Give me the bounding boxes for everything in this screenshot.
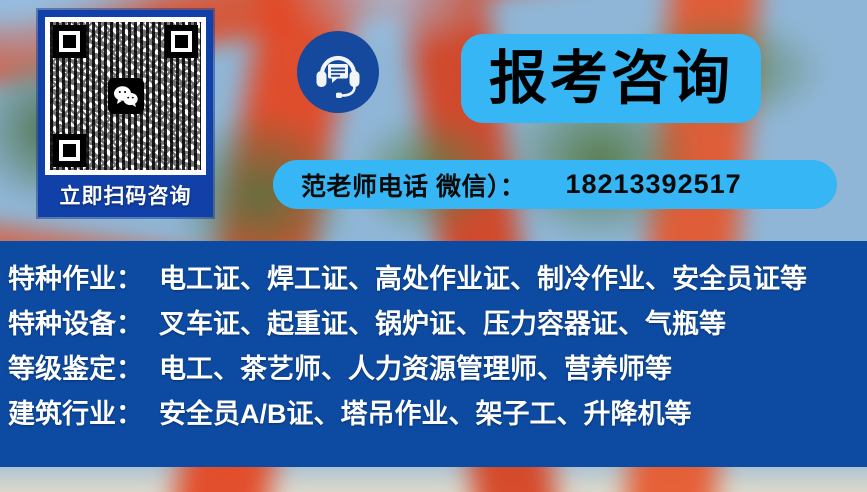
category-items: 叉车证、起重证、锅炉证、压力容器证、气瓶等 [159,302,726,341]
qr-code-card[interactable]: 立即扫码咨询 [38,10,213,217]
qr-code-frame [45,17,206,175]
qr-finder-bottom-left-icon [53,134,86,167]
contact-label: 范老师电话 微信）： [301,167,525,203]
title-badge-text: 报考咨询 [489,50,733,108]
title-badge: 报考咨询 [461,34,761,123]
category-row: 等级鉴定： 电工、茶艺师、人力资源管理师、营养师等 [8,347,867,392]
category-items: 电工证、焊工证、高处作业证、制冷作业、安全员证等 [159,257,807,296]
category-row: 建筑行业： 安全员A/B证、塔吊作业、架子工、升降机等 [8,392,867,437]
qr-code-icon[interactable] [50,22,201,170]
qr-finder-top-left-icon [53,25,86,58]
qr-finder-top-right-icon [165,25,198,58]
headset-support-icon [297,31,379,113]
category-row: 特种设备： 叉车证、起重证、锅炉证、压力容器证、气瓶等 [8,302,867,347]
category-row: 特种作业： 电工证、焊工证、高处作业证、制冷作业、安全员证等 [8,257,867,302]
category-label: 特种设备： [8,302,143,341]
qr-card-caption: 立即扫码咨询 [45,175,206,215]
promo-poster: 立即扫码咨询 报考咨询 范老师电话 微信）： 18213392517 [0,0,867,492]
wechat-icon [108,78,144,114]
category-label: 特种作业： [8,257,143,296]
category-label: 建筑行业： [8,392,143,431]
contact-phone-number[interactable]: 18213392517 [565,169,741,200]
category-items: 电工、茶艺师、人力资源管理师、营养师等 [159,347,672,386]
category-label: 等级鉴定： [8,347,143,386]
category-items: 安全员A/B证、塔吊作业、架子工、升降机等 [159,392,692,431]
contact-phone-badge[interactable]: 范老师电话 微信）： 18213392517 [273,160,837,209]
certification-categories-banner: 特种作业： 电工证、焊工证、高处作业证、制冷作业、安全员证等 特种设备： 叉车证… [0,241,867,467]
